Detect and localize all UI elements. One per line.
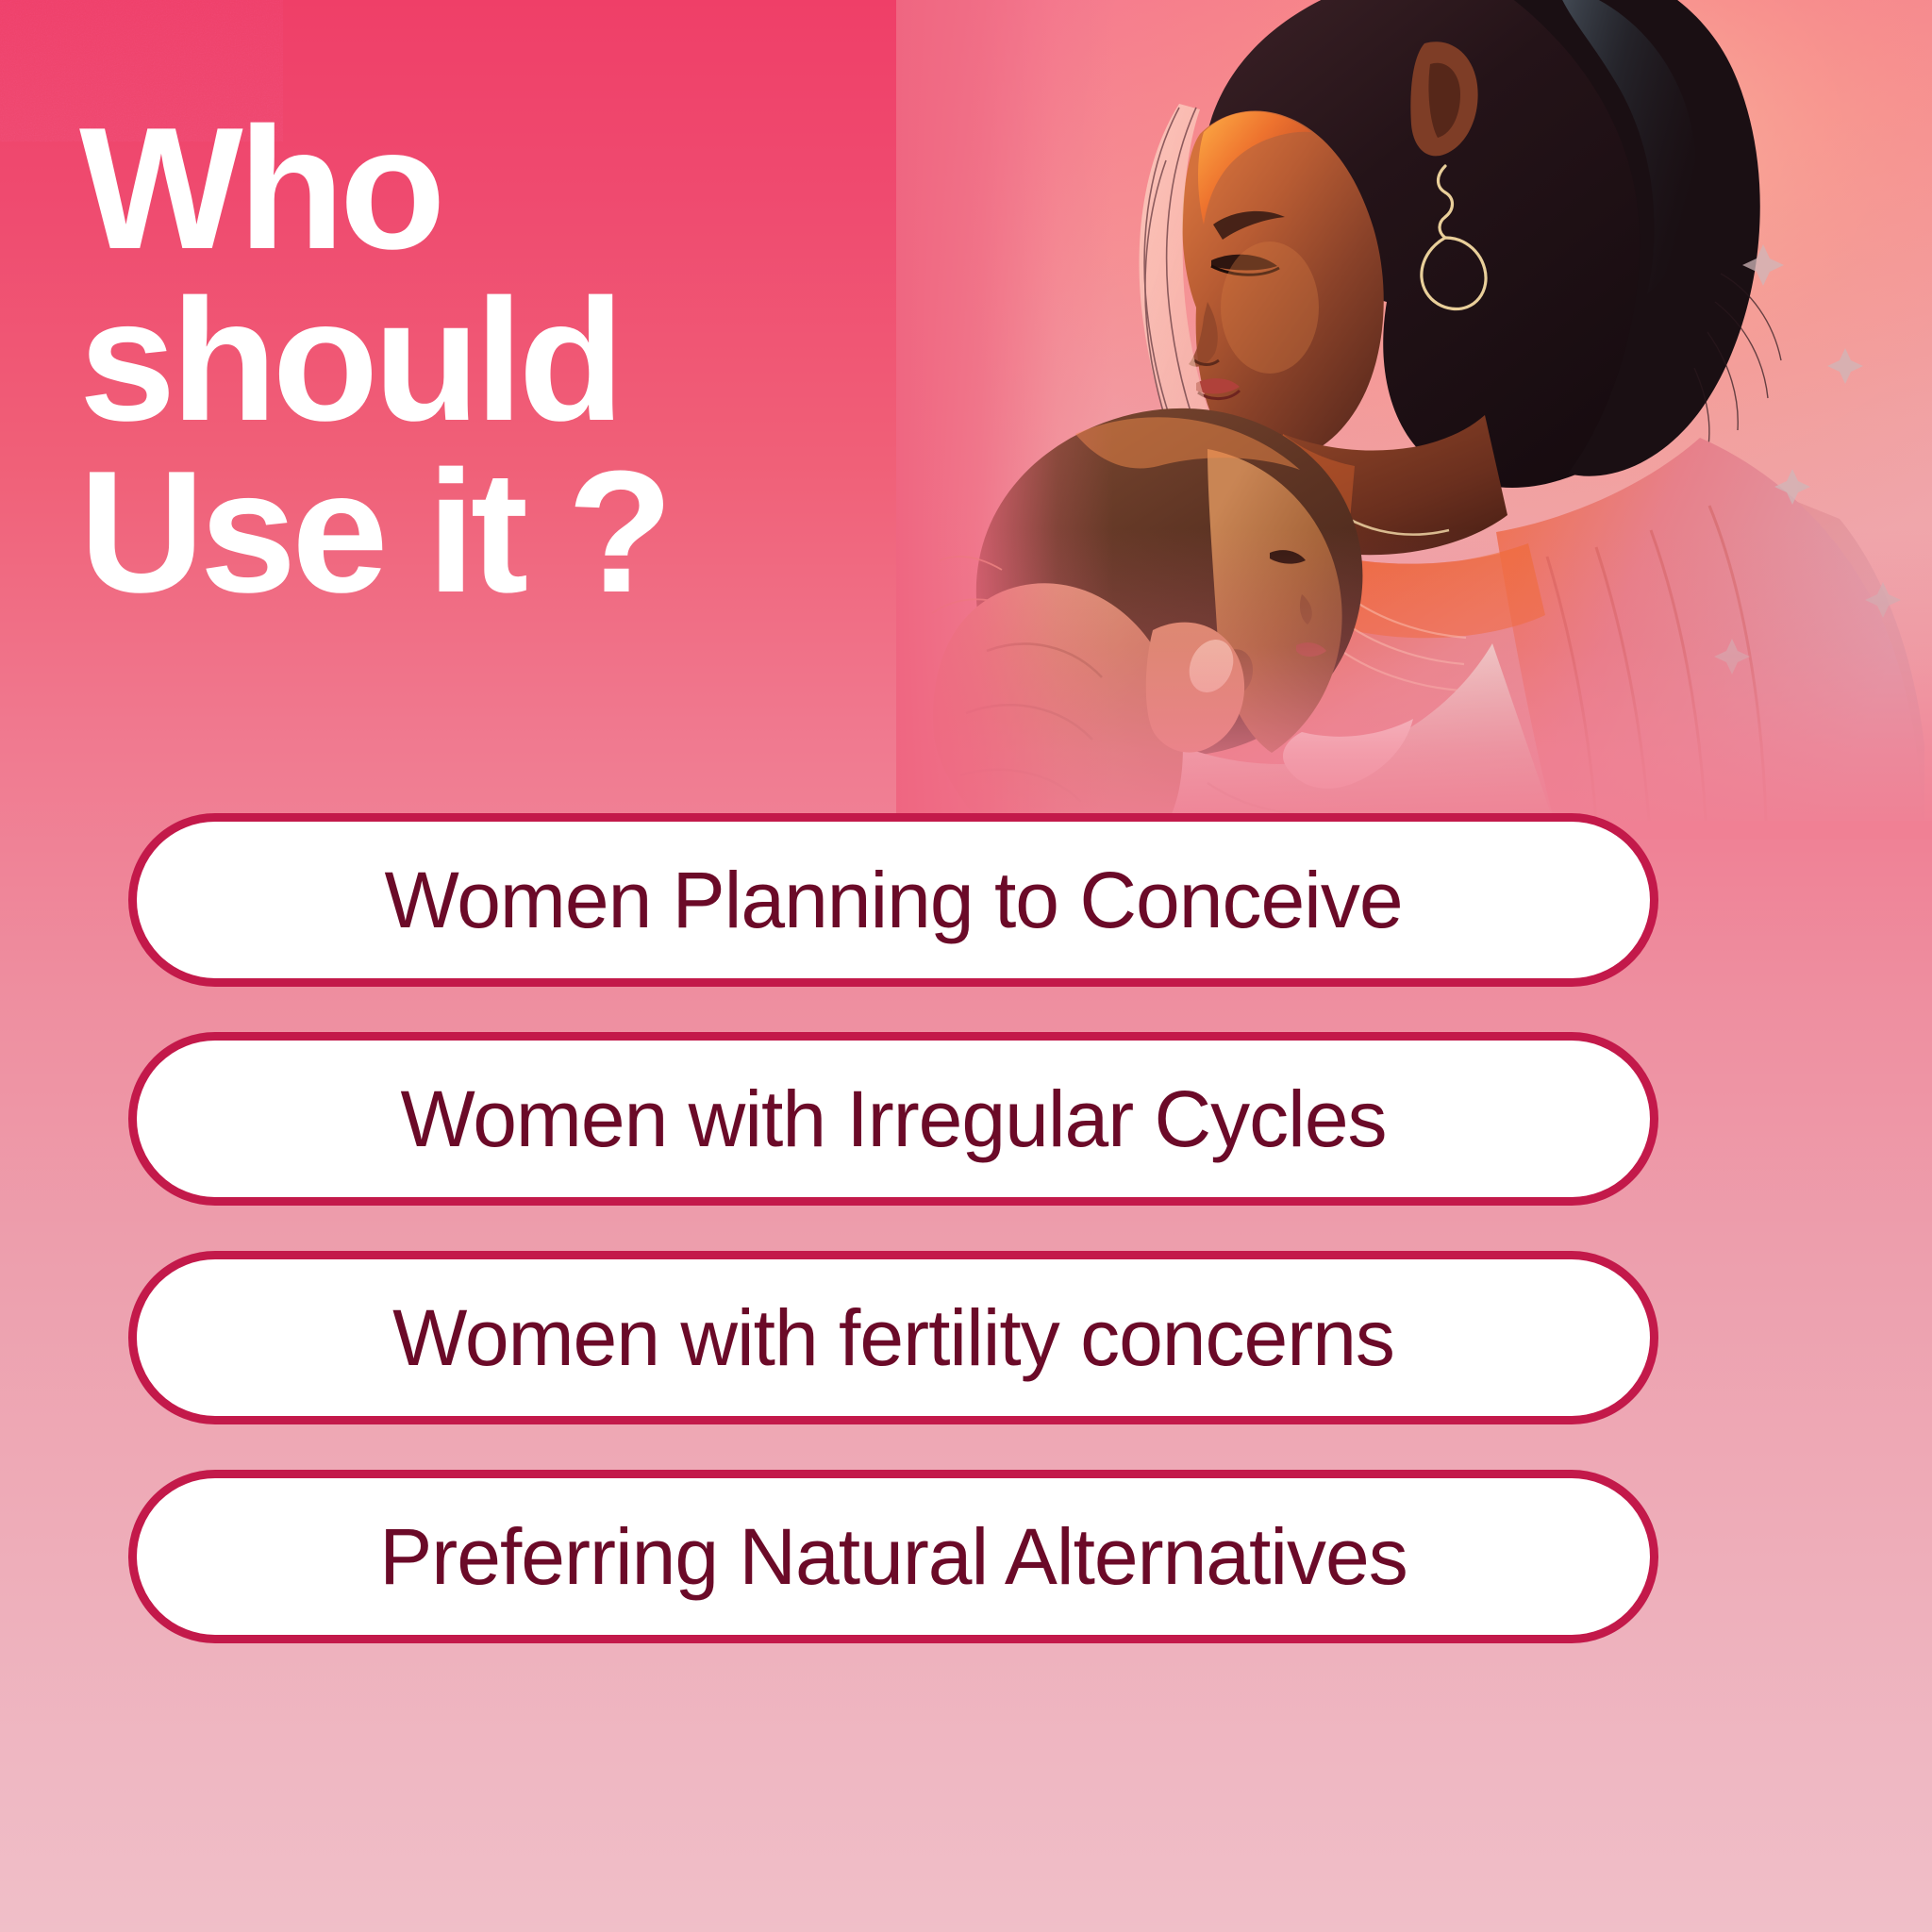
page-title: Who should Use it ? (79, 102, 872, 617)
list-item[interactable]: Women Planning to Conceive (128, 813, 1658, 987)
list-item[interactable]: Women with Irregular Cycles (128, 1032, 1658, 1206)
poster-canvas: Who should Use it ? Women Planning to Co… (0, 0, 1932, 1932)
list-item[interactable]: Women with fertility concerns (128, 1251, 1658, 1424)
list-item[interactable]: Preferring Natural Alternatives (128, 1470, 1658, 1643)
audience-list: Women Planning to Conceive Women with Ir… (128, 813, 1658, 1643)
list-item-label: Women with fertility concerns (392, 1298, 1394, 1377)
list-item-label: Women Planning to Conceive (384, 860, 1402, 940)
mother-holding-baby-photo (896, 0, 1932, 821)
list-item-label: Preferring Natural Alternatives (379, 1517, 1407, 1596)
list-item-label: Women with Irregular Cycles (400, 1079, 1386, 1158)
